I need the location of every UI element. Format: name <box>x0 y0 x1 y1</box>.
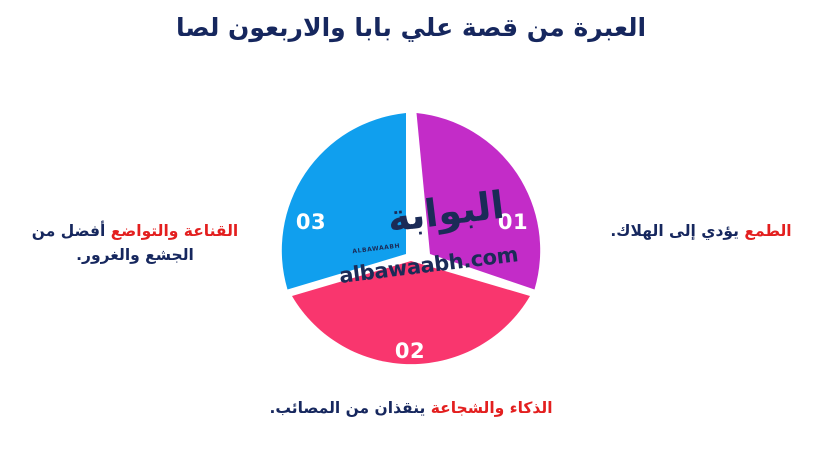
callout-right-highlight: الطمع <box>744 222 791 240</box>
infographic-canvas: العبرة من قصة علي بابا والاربعون لصا 01 … <box>0 0 822 463</box>
callout-bottom-highlight: الذكاء والشجاعة <box>431 399 553 417</box>
page-title: العبرة من قصة علي بابا والاربعون لصا <box>0 12 822 43</box>
callout-bottom: الذكاء والشجاعة ينقذان من المصائب. <box>246 396 576 420</box>
callout-left: القناعة والتواضع أفضل من الجشع والغرور. <box>10 219 260 267</box>
callout-right-rest: يؤدي إلى الهلاك. <box>610 222 744 240</box>
pie-slice-03-number: 03 <box>290 210 332 234</box>
pie-slice-02-number: 02 <box>389 339 431 363</box>
pie-slice-01[interactable] <box>417 113 541 290</box>
pie-slice-03[interactable] <box>282 113 406 290</box>
callout-right: الطمع يؤدي إلى الهلاك. <box>588 219 814 243</box>
pie-slice-01-number: 01 <box>492 210 534 234</box>
callout-bottom-rest: ينقذان من المصائب. <box>269 399 430 417</box>
callout-left-highlight: القناعة والتواضع <box>111 222 239 240</box>
